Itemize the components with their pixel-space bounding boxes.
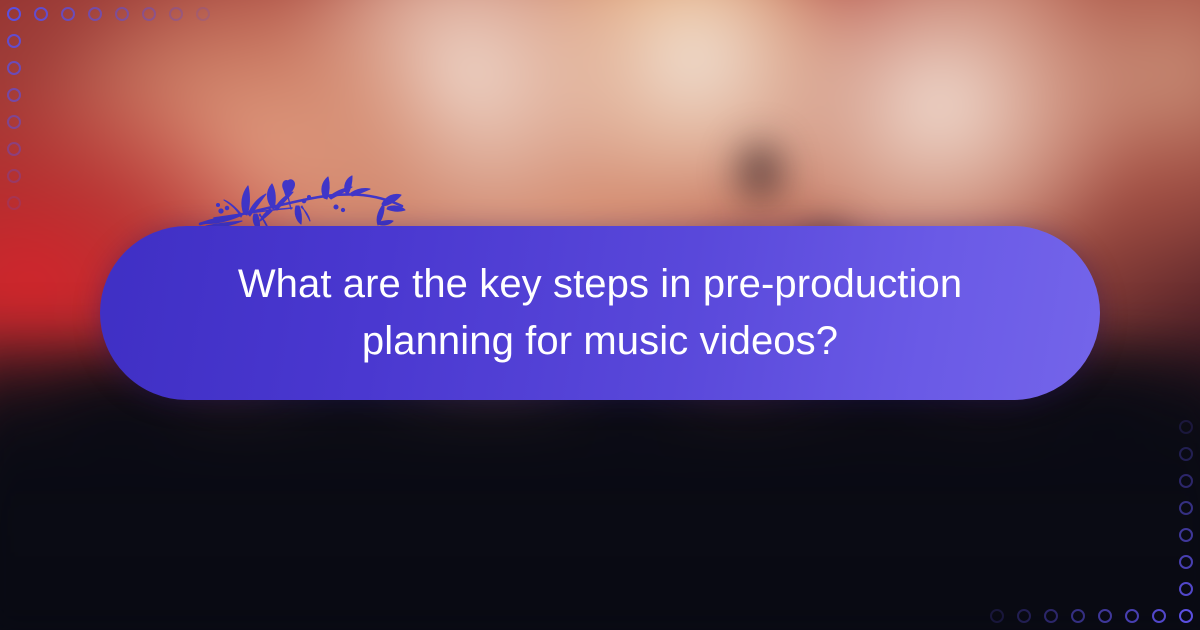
floral-branch-ornament	[196, 166, 411, 234]
question-panel: What are the key steps in pre-production…	[100, 226, 1100, 400]
question-text: What are the key steps in pre-production…	[220, 256, 980, 370]
social-share-card: What are the key steps in pre-production…	[0, 0, 1200, 630]
